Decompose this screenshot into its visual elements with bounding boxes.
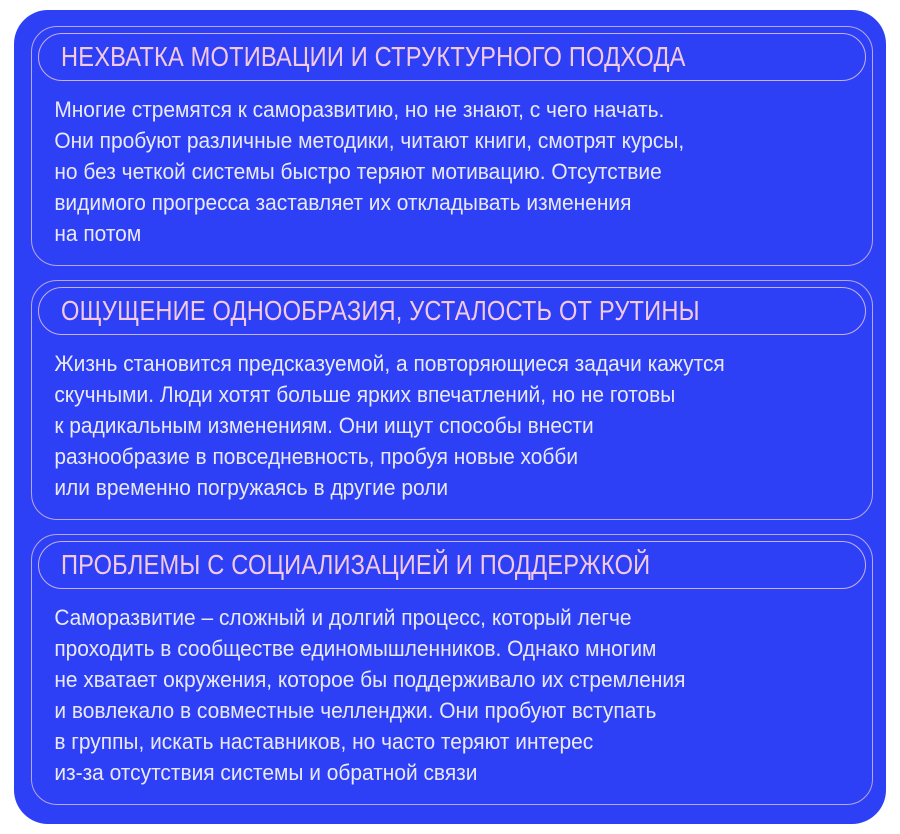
section-card: ПРОБЛЕМЫ С СОЦИАЛИЗАЦИЕЙ И ПОДДЕРЖКОЙ Са…: [31, 534, 873, 805]
content-panel: НЕХВАТКА МОТИВАЦИИ И СТРУКТУРНОГО ПОДХОД…: [14, 10, 886, 824]
section-header-pill: ПРОБЛЕМЫ С СОЦИАЛИЗАЦИЕЙ И ПОДДЕРЖКОЙ: [38, 541, 866, 589]
section-header-title: ПРОБЛЕМЫ С СОЦИАЛИЗАЦИЕЙ И ПОДДЕРЖКОЙ: [61, 551, 650, 579]
section-card: ОЩУЩЕНИЕ ОДНООБРАЗИЯ, УСТАЛОСТЬ ОТ РУТИН…: [31, 280, 873, 520]
section-header-title: НЕХВАТКА МОТИВАЦИИ И СТРУКТУРНОГО ПОДХОД…: [61, 43, 686, 71]
section-body-text: Саморазвитие – сложный и долгий процесс,…: [32, 589, 900, 788]
section-header-pill: НЕХВАТКА МОТИВАЦИИ И СТРУКТУРНОГО ПОДХОД…: [38, 33, 866, 81]
section-body-text: Жизнь становится предсказуемой, а повтор…: [32, 335, 900, 503]
section-header-title: ОЩУЩЕНИЕ ОДНООБРАЗИЯ, УСТАЛОСТЬ ОТ РУТИН…: [61, 297, 700, 325]
section-card: НЕХВАТКА МОТИВАЦИИ И СТРУКТУРНОГО ПОДХОД…: [31, 26, 873, 266]
section-header-pill: ОЩУЩЕНИЕ ОДНООБРАЗИЯ, УСТАЛОСТЬ ОТ РУТИН…: [38, 287, 866, 335]
sections-list: НЕХВАТКА МОТИВАЦИИ И СТРУКТУРНОГО ПОДХОД…: [31, 26, 873, 805]
section-body-text: Многие стремятся к саморазвитию, но не з…: [32, 81, 900, 249]
